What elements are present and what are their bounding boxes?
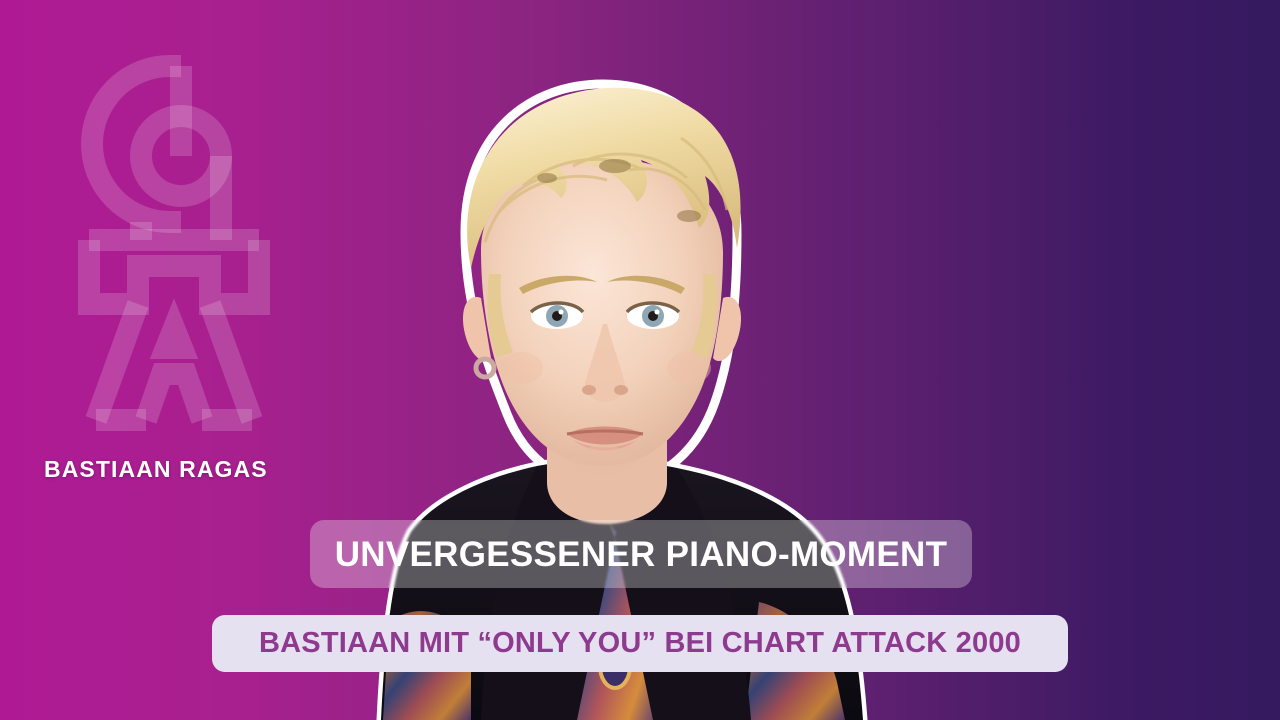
caption-title-text: UNVERGESSENER PIANO-MOMENT — [335, 537, 948, 572]
caption-subtitle-pill: BASTIAAN MIT “ONLY YOU” BEI CHART ATTACK… — [212, 615, 1068, 672]
caption-subtitle-text: BASTIAAN MIT “ONLY YOU” BEI CHART ATTACK… — [259, 629, 1021, 658]
caption-title-pill: UNVERGESSENER PIANO-MOMENT — [310, 520, 972, 588]
thumbnail-card: BASTIAAN RAGAS — [0, 0, 1280, 720]
brand-name: BASTIAAN RAGAS — [44, 456, 268, 483]
chart-attack-ca-monogram-icon — [78, 52, 270, 434]
